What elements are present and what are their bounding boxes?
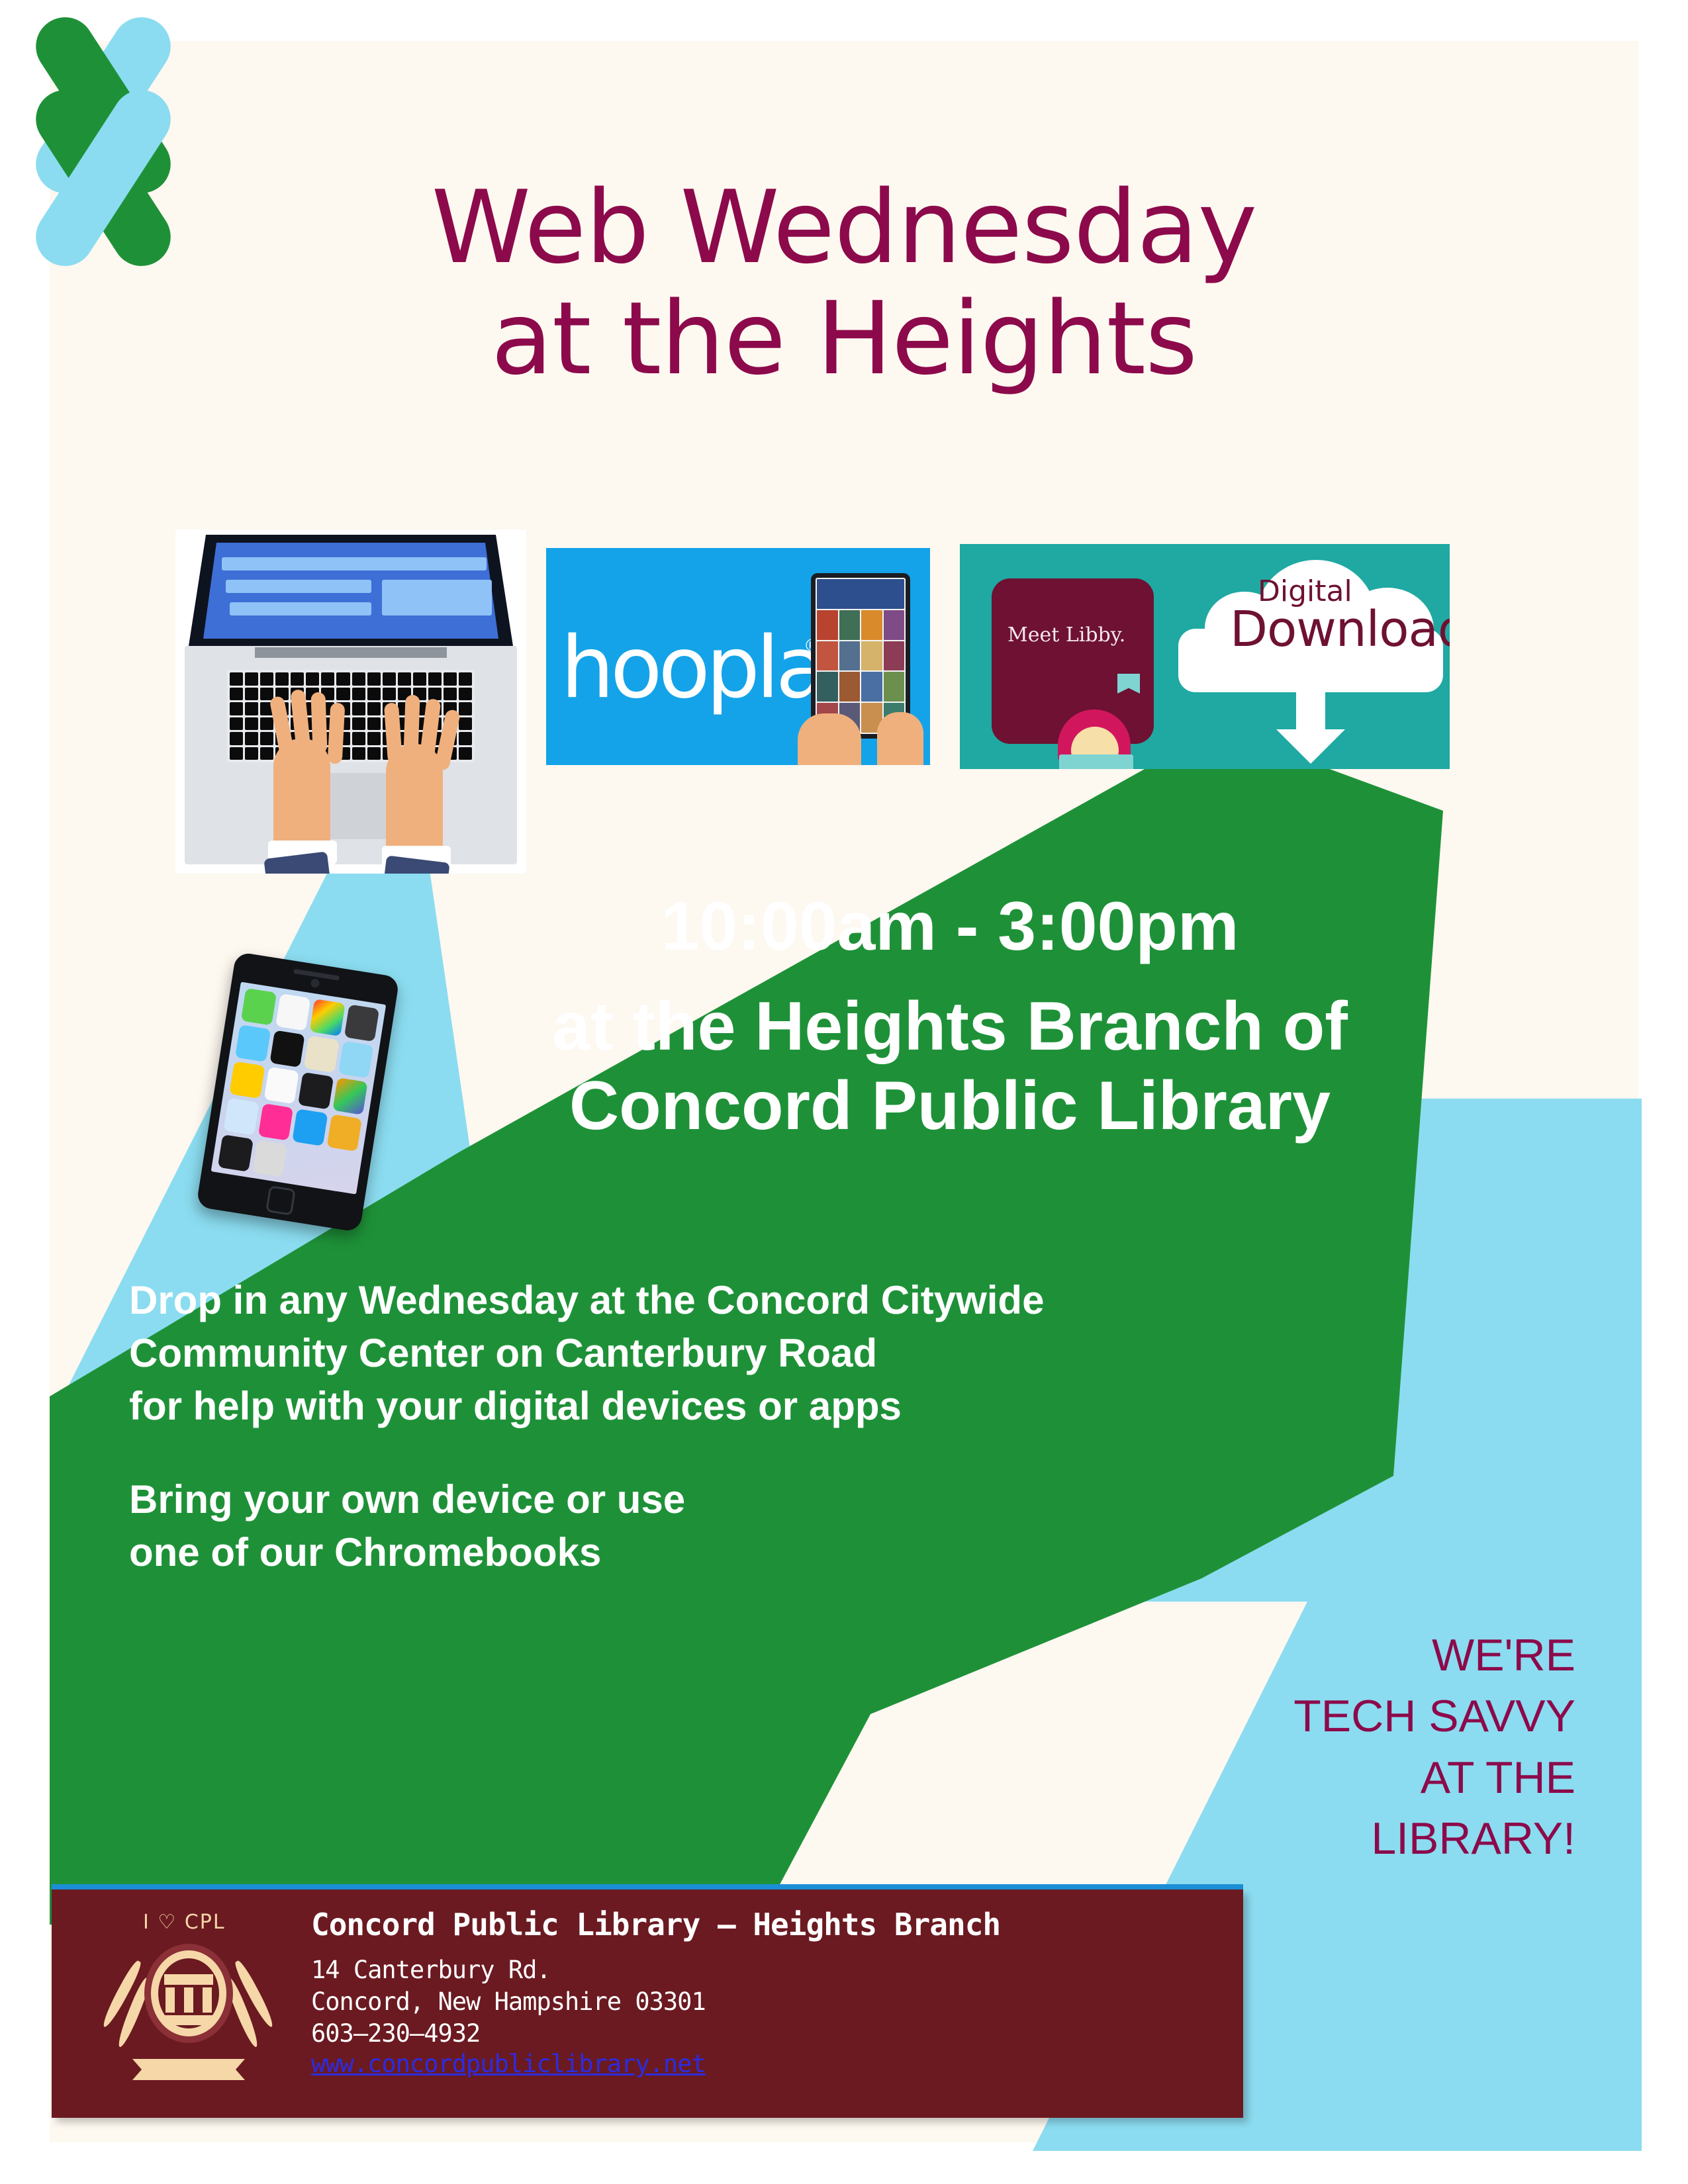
poster-title: Web Wednesday at the Heights <box>285 177 1403 389</box>
footer-contact-text: Concord Public Library – Heights Branch … <box>311 1907 1192 2078</box>
title-line-2: at the Heights <box>285 289 1403 389</box>
event-location-line2: Concord Public Library <box>477 1066 1423 1146</box>
libby-digital-downloads-image: Digital Downloads Meet Libby. <box>960 544 1450 769</box>
description-line-4: Bring your own device or use <box>129 1473 1453 1526</box>
hoopla-wordmark: hoopla <box>561 626 823 711</box>
description-line-3: for help with your digital devices or ap… <box>129 1380 1453 1433</box>
screen-block <box>382 580 492 615</box>
downloads-label: Downloads <box>1230 601 1450 658</box>
library-building-roof-icon <box>164 1974 213 1985</box>
library-website-link[interactable]: www.concordpubliclibrary.net <box>311 2050 706 2078</box>
screen-line-3 <box>230 602 371 615</box>
event-headline: 10:00am - 3:00pm at the Heights Branch o… <box>477 887 1423 1146</box>
library-address-line-2: Concord, New Hampshire 03301 <box>311 1986 1192 2018</box>
footer-contact-card: I ♡ CPL Concord Public Library – Heights… <box>52 1889 1243 2118</box>
cpl-logo-wordmark: I ♡ CPL <box>143 1911 242 1934</box>
description-line-1: Drop in any Wednesday at the Concord Cit… <box>129 1274 1453 1327</box>
event-description: Drop in any Wednesday at the Concord Cit… <box>129 1274 1453 1579</box>
description-line-2: Community Center on Canterbury Road <box>129 1327 1453 1380</box>
library-building-base-icon <box>164 2015 213 2025</box>
tagline-line-1: WE'RE <box>1165 1625 1575 1686</box>
hand-pointing-icon <box>877 712 923 765</box>
tagline-line-4: LIBRARY! <box>1165 1808 1575 1869</box>
screen-line-1 <box>222 557 487 570</box>
hoopla-image: hoopla ® <box>546 548 930 765</box>
cpl-seal-logo: I ♡ CPL <box>113 1905 265 2104</box>
library-column-icon <box>165 1987 175 2013</box>
library-phone: 603–230–4932 <box>311 2018 1192 2050</box>
library-branch-name: Concord Public Library – Heights Branch <box>311 1907 1192 1942</box>
library-column-icon <box>184 1987 193 2013</box>
tech-savvy-tagline: WE'RE TECH SAVVY AT THE LIBRARY! <box>1165 1625 1575 1870</box>
description-line-5: one of our Chromebooks <box>129 1526 1453 1579</box>
hand-holding-tablet-icon <box>798 713 861 765</box>
tagline-line-2: TECH SAVVY <box>1165 1686 1575 1747</box>
phone-home-screen <box>211 981 387 1194</box>
libby-book-shape <box>1059 754 1133 769</box>
poster-canvas: Web Wednesday at the Heights <box>0 0 1688 2184</box>
tagline-line-3: AT THE <box>1165 1747 1575 1808</box>
seal-ribbon-icon <box>132 2059 245 2080</box>
meet-libby-label: Meet Libby. <box>1008 623 1125 647</box>
laptop-typing-image <box>175 529 526 874</box>
screen-line-2 <box>226 580 371 593</box>
library-address-line-1: 14 Canterbury Rd. <box>311 1954 1192 1986</box>
download-arrow-icon <box>1276 691 1345 764</box>
left-hand-icon <box>273 739 330 858</box>
event-time: 10:00am - 3:00pm <box>477 887 1423 967</box>
right-hand-icon <box>386 744 443 863</box>
paragraph-spacer <box>129 1432 1453 1473</box>
laptop-hinge-icon <box>255 647 447 658</box>
phone-camera-icon <box>310 978 320 988</box>
phone-home-button-icon <box>265 1185 296 1216</box>
library-column-icon <box>203 1987 212 2013</box>
tablet-screen <box>816 578 906 734</box>
event-location-line1: at the Heights Branch of <box>477 987 1423 1067</box>
title-line-1: Web Wednesday <box>432 169 1257 286</box>
